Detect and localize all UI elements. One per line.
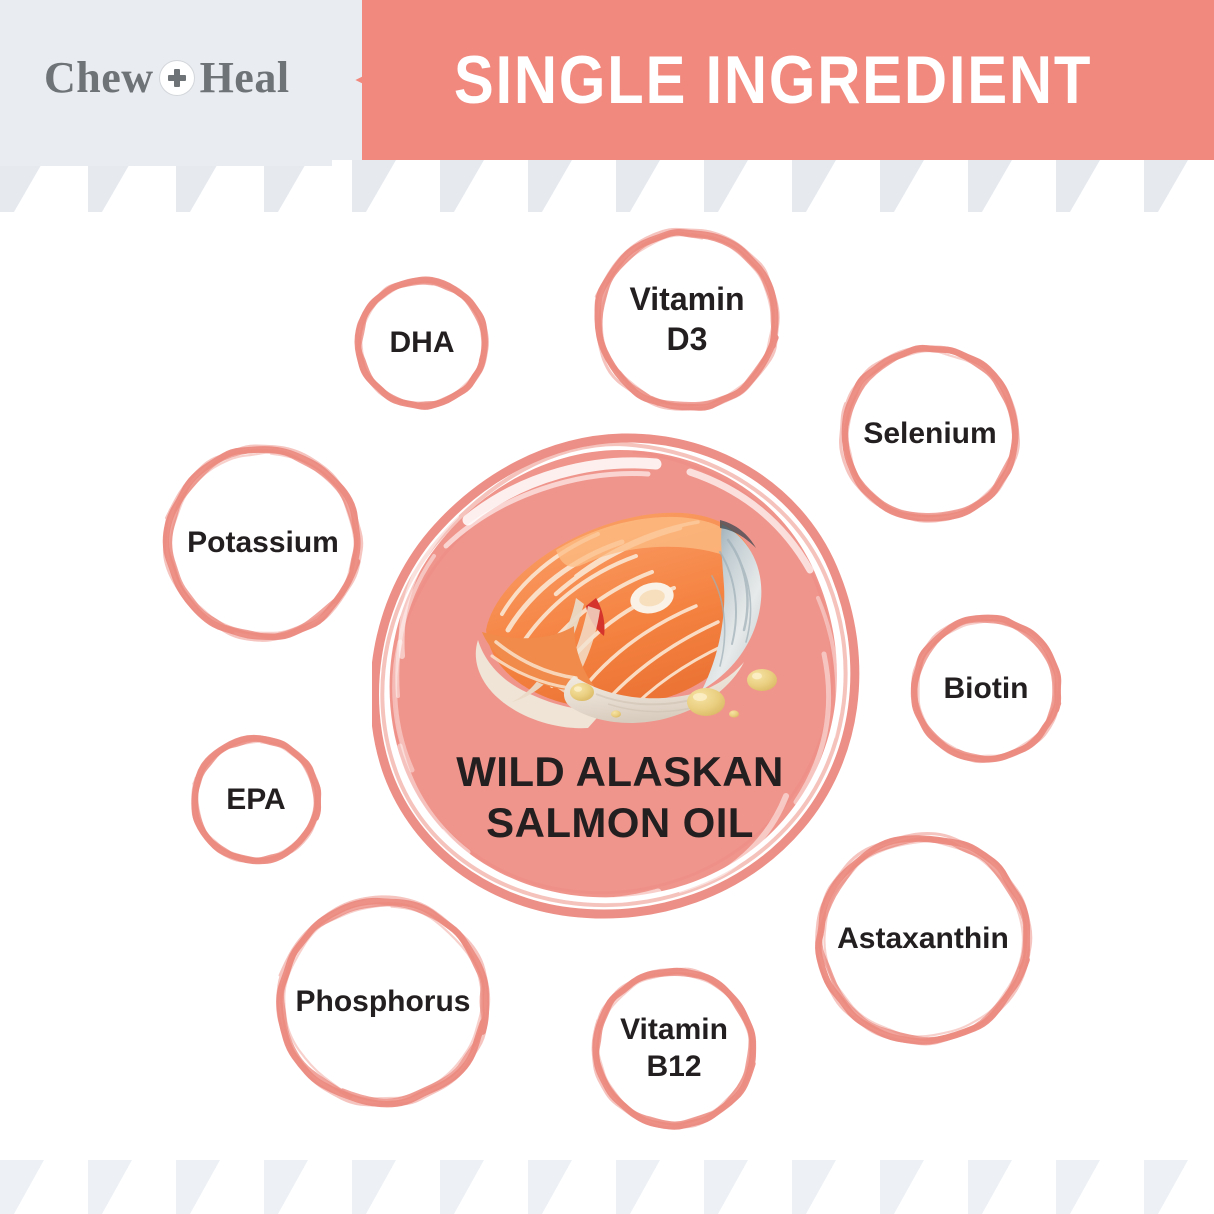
sketch-circle-outline — [892, 595, 1080, 783]
oil-droplet-left — [570, 683, 594, 701]
sketch-stroke-3 — [816, 833, 1030, 1043]
sketch-circle-outline — [575, 208, 799, 432]
nutrient-bubble-vitamin-b12[interactable]: VitaminB12 — [573, 947, 775, 1149]
sketch-stroke-4 — [197, 742, 315, 859]
oil-droplet-tiny-1 — [611, 710, 621, 717]
product-name-line-1: WILD ALASKAN — [456, 748, 784, 795]
sketch-circle-outline — [145, 425, 381, 661]
nutrient-bubble-phosphorus[interactable]: Phosphorus — [258, 877, 508, 1127]
sketch-circle-outline — [172, 716, 340, 884]
sketch-circle-outline — [797, 813, 1049, 1065]
stripe-pattern-bottom — [0, 1152, 1214, 1214]
sketch-stroke-3 — [912, 616, 1060, 761]
sketch-circle-outline — [821, 325, 1039, 543]
sketch-stroke-4 — [847, 351, 1013, 516]
brand-logo: Chew Heal — [44, 52, 290, 103]
product-name: WILD ALASKAN SALMON OIL — [372, 746, 868, 848]
sketch-stroke-3 — [593, 969, 754, 1128]
sketch-stroke-3 — [357, 279, 487, 407]
sketch-stroke-4 — [602, 235, 773, 405]
nutrient-bubble-potassium[interactable]: Potassium — [145, 425, 381, 661]
page-title: SINGLE INGREDIENT — [385, 0, 1161, 160]
product-name-line-2: SALMON OIL — [372, 797, 868, 848]
sketch-circle-outline — [573, 947, 775, 1149]
nutrient-bubble-epa[interactable]: EPA — [172, 716, 340, 884]
sketch-stroke-4 — [284, 905, 482, 1098]
nutrient-bubble-astaxanthin[interactable]: Astaxanthin — [797, 813, 1049, 1065]
infographic-canvas: SINGLE INGREDIENT Chew Heal — [0, 0, 1214, 1214]
nutrient-bubble-vitamin-d3[interactable]: VitaminD3 — [575, 208, 799, 432]
center-product-badge: WILD ALASKAN SALMON OIL — [372, 428, 868, 924]
sketch-stroke-2 — [820, 839, 1025, 1039]
sketch-stroke-4 — [824, 841, 1023, 1037]
nutrient-bubble-biotin[interactable]: Biotin — [892, 595, 1080, 783]
sketch-circle-outline — [336, 257, 508, 429]
brand-logo-text-chew: Chew — [44, 52, 154, 103]
oil-droplet-right — [747, 669, 777, 691]
salmon-steak-image — [456, 480, 786, 740]
oil-droplet-tiny-2 — [729, 710, 739, 717]
bottom-stripe-divider — [0, 1152, 1214, 1214]
nutrient-bubble-selenium[interactable]: Selenium — [821, 325, 1039, 543]
sketch-stroke-3 — [164, 446, 361, 640]
brand-logo-text-heal: Heal — [200, 52, 290, 103]
sketch-stroke-3 — [192, 737, 319, 862]
header-banner: SINGLE INGREDIENT Chew Heal — [0, 0, 1214, 160]
nutrient-bubble-dha[interactable]: DHA — [336, 257, 508, 429]
oil-droplet-large — [687, 688, 725, 716]
plus-icon — [160, 61, 194, 95]
sketch-circle-outline — [258, 877, 508, 1127]
